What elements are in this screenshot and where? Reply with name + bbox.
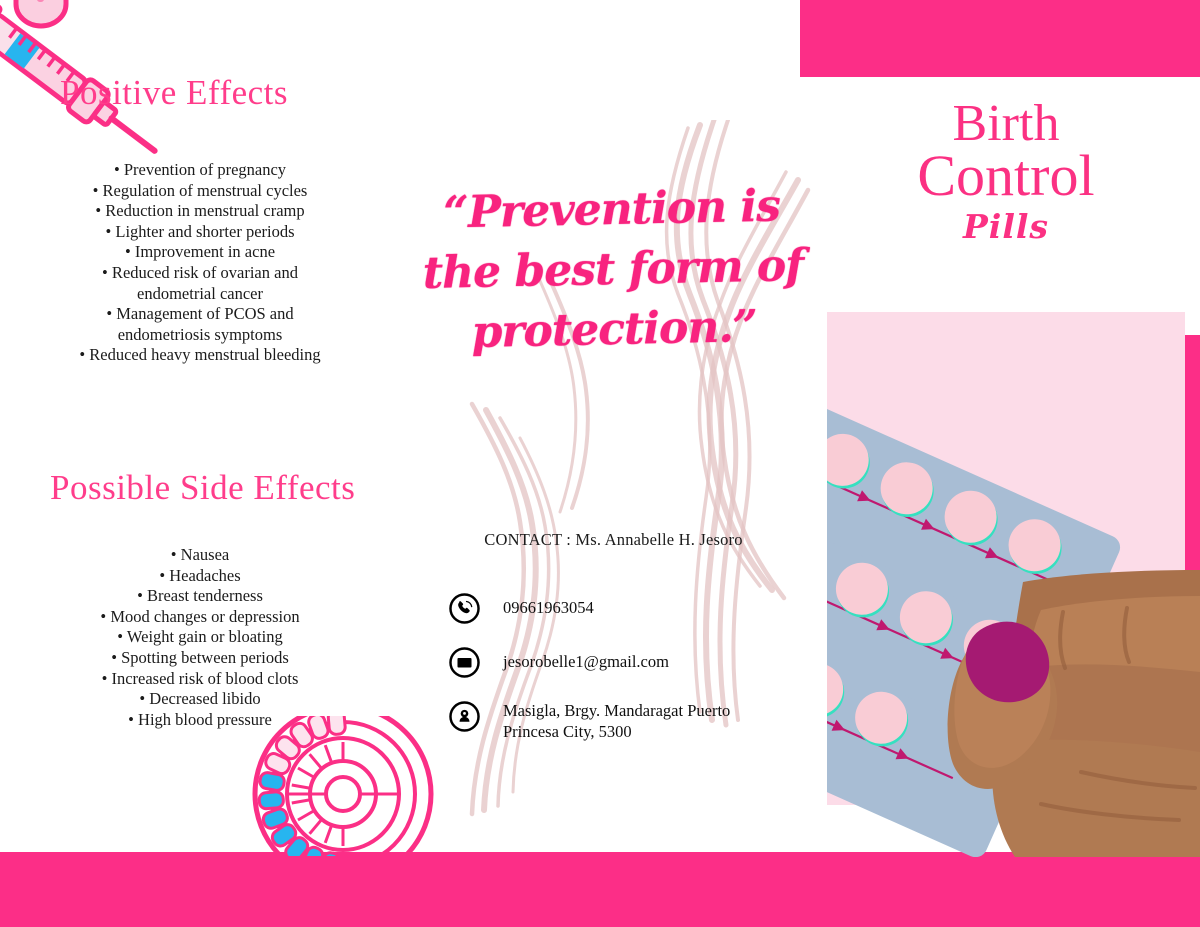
location-pin-icon: [448, 700, 481, 733]
list-item: • Spotting between periods: [0, 648, 400, 669]
list-item: • Breast tenderness: [0, 586, 400, 607]
center-panel: “Prevention is the best form of protecti…: [400, 0, 827, 852]
list-item: • Prevention of pregnancy: [0, 160, 400, 181]
contact-list: 09661963054 jesorobelle1@gmail.com Masig…: [448, 592, 808, 763]
pull-quote: “Prevention is the best form of protecti…: [416, 176, 810, 364]
list-item: • Mood changes or depression: [0, 607, 400, 628]
brand-line-1: Birth: [827, 100, 1185, 148]
list-item: • Reduced risk of ovarian and endometria…: [0, 263, 400, 304]
phone-number: 09661963054: [503, 592, 594, 618]
side-effects-title: Possible Side Effects: [50, 468, 355, 508]
list-item: • Decreased libido: [0, 689, 400, 710]
list-item: • Improvement in acne: [0, 242, 400, 263]
postal-address: Masigla, Brgy. Mandaragat Puerto Princes…: [503, 700, 730, 742]
list-item: • Weight gain or bloating: [0, 627, 400, 648]
list-item: • Management of PCOS and endometriosis s…: [0, 304, 400, 345]
positive-effects-list: • Prevention of pregnancy • Regulation o…: [0, 160, 400, 366]
brochure-page: Positive Effects • Prevention of pregnan…: [0, 0, 1200, 927]
list-item: • Reduced heavy menstrual bleeding: [0, 345, 400, 366]
contact-row-email[interactable]: jesorobelle1@gmail.com: [448, 646, 808, 679]
contact-row-phone[interactable]: 09661963054: [448, 592, 808, 625]
brand-line-3: Pills: [827, 208, 1185, 246]
positive-effects-title: Positive Effects: [60, 73, 288, 113]
contact-row-address[interactable]: Masigla, Brgy. Mandaragat Puerto Princes…: [448, 700, 808, 742]
envelope-icon: [448, 646, 481, 679]
email-address: jesorobelle1@gmail.com: [503, 646, 669, 672]
hero-image: [827, 312, 1200, 857]
brochure-title: Birth Control Pills: [827, 100, 1185, 246]
list-item: • Lighter and shorter periods: [0, 222, 400, 243]
right-panel: Birth Control Pills: [827, 0, 1200, 927]
left-panel: Positive Effects • Prevention of pregnan…: [0, 0, 400, 852]
brand-line-2: Control: [827, 148, 1185, 204]
list-item: • Nausea: [0, 545, 400, 566]
list-item: • Increased risk of blood clots: [0, 669, 400, 690]
side-effects-list: • Nausea • Headaches • Breast tenderness…: [0, 545, 400, 730]
phone-icon: [448, 592, 481, 625]
list-item: • Headaches: [0, 566, 400, 587]
list-item: • Regulation of menstrual cycles: [0, 181, 400, 202]
contact-heading: CONTACT : Ms. Annabelle H. Jesoro: [400, 530, 827, 550]
list-item: • Reduction in menstrual cramp: [0, 201, 400, 222]
